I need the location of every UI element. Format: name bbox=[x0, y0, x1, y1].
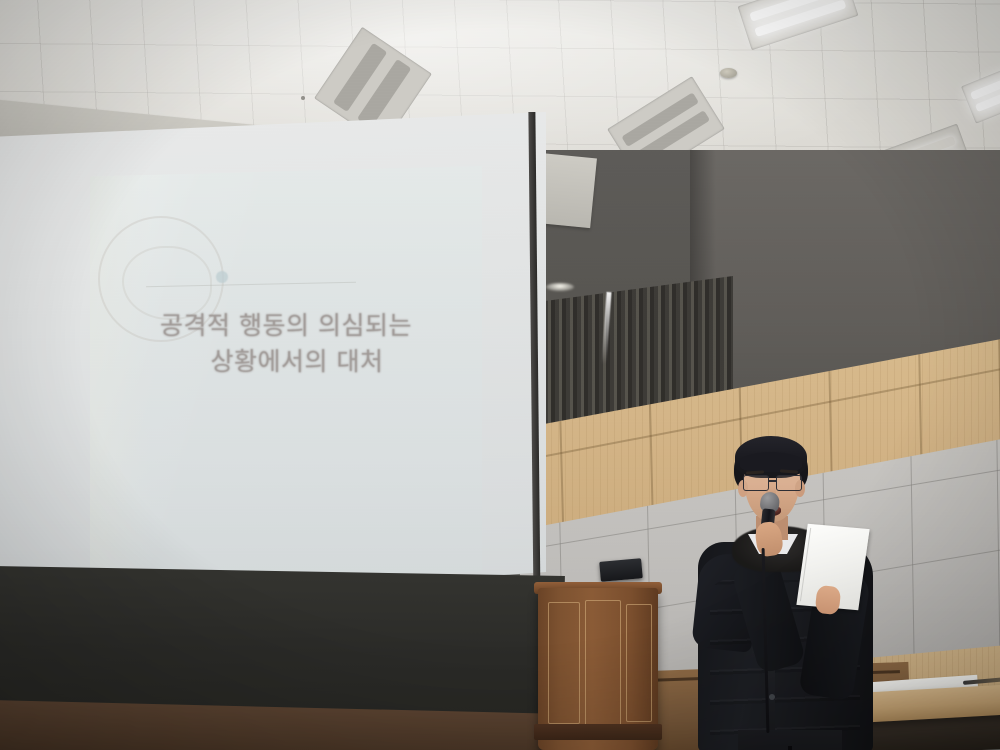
slide-title-line-1: 공격적 행동의 의심되는 bbox=[90, 308, 482, 344]
trouser-seam bbox=[788, 746, 792, 750]
photo-scene: 공격적 행동의 의심되는 상황에서의 대처 bbox=[0, 0, 1000, 750]
recessed-downlight bbox=[546, 283, 574, 291]
screen-surface: 공격적 행동의 의심되는 상황에서의 대처 bbox=[0, 112, 546, 612]
lectern-panel bbox=[548, 602, 580, 724]
slide-watermark-dot bbox=[216, 271, 228, 283]
confidence-monitor bbox=[599, 558, 643, 582]
hair-fringe bbox=[740, 452, 802, 472]
lectern-panel bbox=[585, 600, 621, 726]
panel-seam bbox=[910, 430, 915, 680]
panel-seam bbox=[996, 430, 1000, 680]
slide-title-line-2: 상황에서의 대처 bbox=[90, 344, 482, 380]
projection-screen: 공격적 행동의 의심되는 상황에서의 대처 bbox=[0, 112, 546, 612]
projected-slide: 공격적 행동의 의심되는 상황에서의 대처 bbox=[90, 166, 482, 584]
glasses-lens bbox=[743, 475, 769, 491]
ceiling-speck bbox=[301, 96, 305, 100]
presenter bbox=[690, 430, 900, 750]
smoke-detector-1 bbox=[720, 68, 737, 78]
slide-title: 공격적 행동의 의심되는 상황에서의 대처 bbox=[90, 308, 482, 379]
lectern-base bbox=[534, 724, 662, 740]
lectern-panel bbox=[626, 604, 652, 722]
glasses-lens bbox=[776, 475, 802, 491]
jacket-button bbox=[769, 694, 775, 700]
